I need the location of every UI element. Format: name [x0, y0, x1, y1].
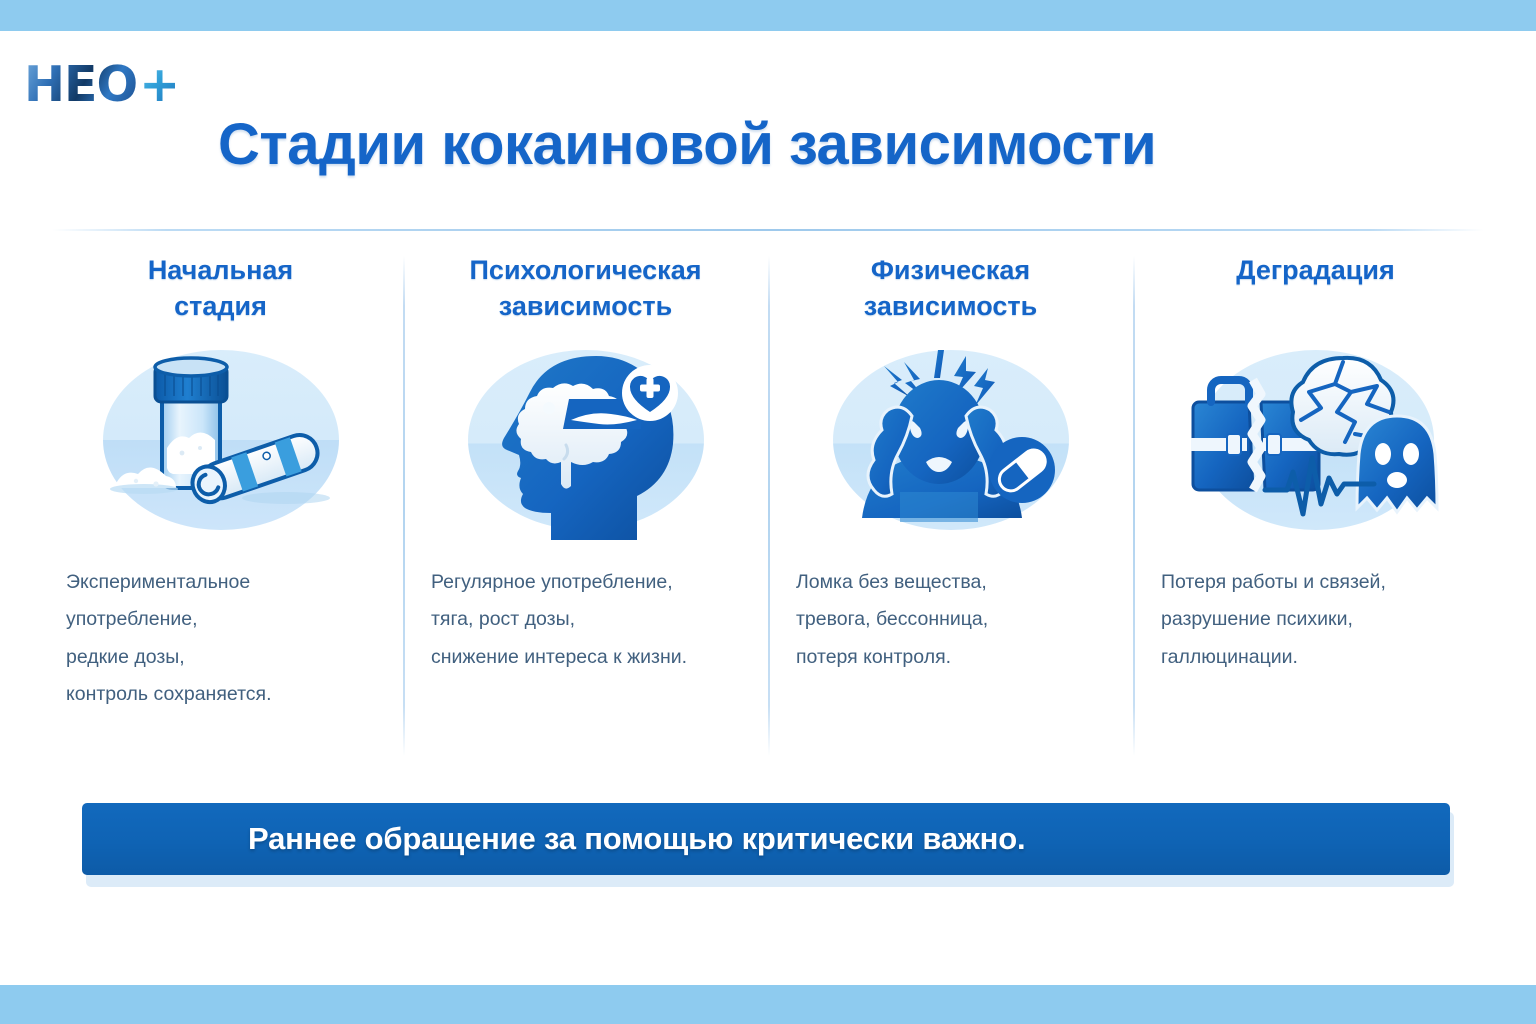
stage-body-1-line1: Экспериментальное	[66, 564, 389, 601]
page-title: Стадии кокаиновой зависимости	[218, 111, 1156, 178]
broken-briefcase-cracked-brain-ghost-icon	[1191, 340, 1441, 540]
stage-body-4-line1: Потеря работы и связей,	[1161, 564, 1484, 601]
stage-body-2-line1: Регулярное употребление,	[431, 564, 754, 601]
stage-body-3-line2: тревога, бессонница,	[796, 601, 1119, 638]
stage-title-3-line1: Физическая	[871, 255, 1030, 285]
stage-column-1: Начальная стадия	[38, 252, 403, 762]
stage-title-2-line2: зависимость	[499, 291, 672, 321]
stage-body-1-line3: редкие дозы,	[66, 639, 389, 676]
distressed-person-headache-pill-icon	[826, 340, 1076, 540]
call-to-action-text: Раннее обращение за помощью критически в…	[248, 821, 1025, 857]
stage-body-2: Регулярное употребление, тяга, рост дозы…	[417, 564, 754, 676]
stage-title-2: Психологическая зависимость	[470, 252, 702, 326]
stage-title-4-line1: Деградация	[1236, 255, 1394, 285]
top-accent-band	[0, 0, 1536, 31]
pill-bottle-powder-rolled-bill-icon	[96, 340, 346, 540]
stage-title-1-line1: Начальная	[148, 255, 293, 285]
stage-title-3: Физическая зависимость	[864, 252, 1037, 326]
stage-body-4-line3: галлюцинации.	[1161, 639, 1484, 676]
stage-title-3-line2: зависимость	[864, 291, 1037, 321]
head-brain-heart-plus-icon	[461, 340, 711, 540]
stage-body-3-line1: Ломка без вещества,	[796, 564, 1119, 601]
stage-body-2-line2: тяга, рост дозы,	[431, 601, 754, 638]
stage-column-4: Деградация	[1133, 252, 1498, 762]
stage-title-1-line2: стадия	[174, 291, 267, 321]
stage-body-2-line3: снижение интереса к жизни.	[431, 639, 754, 676]
stage-body-1-line4: контроль сохраняется.	[66, 676, 389, 713]
stage-body-1-line2: употребление,	[66, 601, 389, 638]
stage-title-1: Начальная стадия	[148, 252, 293, 326]
stage-body-3: Ломка без вещества, тревога, бессонница,…	[782, 564, 1119, 676]
stages-container: Начальная стадия	[38, 252, 1498, 762]
brand-logo-text: НЕО	[24, 60, 137, 109]
stage-body-4-line2: разрушение психики,	[1161, 601, 1484, 638]
stage-title-2-line1: Психологическая	[470, 255, 702, 285]
stage-column-2: Психологическая зависимость	[403, 252, 768, 762]
brand-logo: НЕО+	[24, 53, 204, 115]
stage-title-4: Деградация	[1236, 252, 1394, 326]
stage-body-1: Экспериментальное употребление, редкие д…	[52, 564, 389, 714]
stage-body-3-line3: потеря контроля.	[796, 639, 1119, 676]
bottom-accent-band	[0, 985, 1536, 1024]
brand-logo-plus-icon: +	[139, 60, 180, 109]
stage-column-3: Физическая зависимость	[768, 252, 1133, 762]
infographic-root: НЕО+ Стадии кокаиновой зависимости Начал…	[0, 0, 1536, 1024]
call-to-action-banner: Раннее обращение за помощью критически в…	[82, 803, 1450, 875]
stage-body-4: Потеря работы и связей, разрушение психи…	[1147, 564, 1484, 676]
header-divider	[52, 229, 1484, 231]
header: НЕО+ Стадии кокаиновой зависимости	[0, 31, 1536, 196]
